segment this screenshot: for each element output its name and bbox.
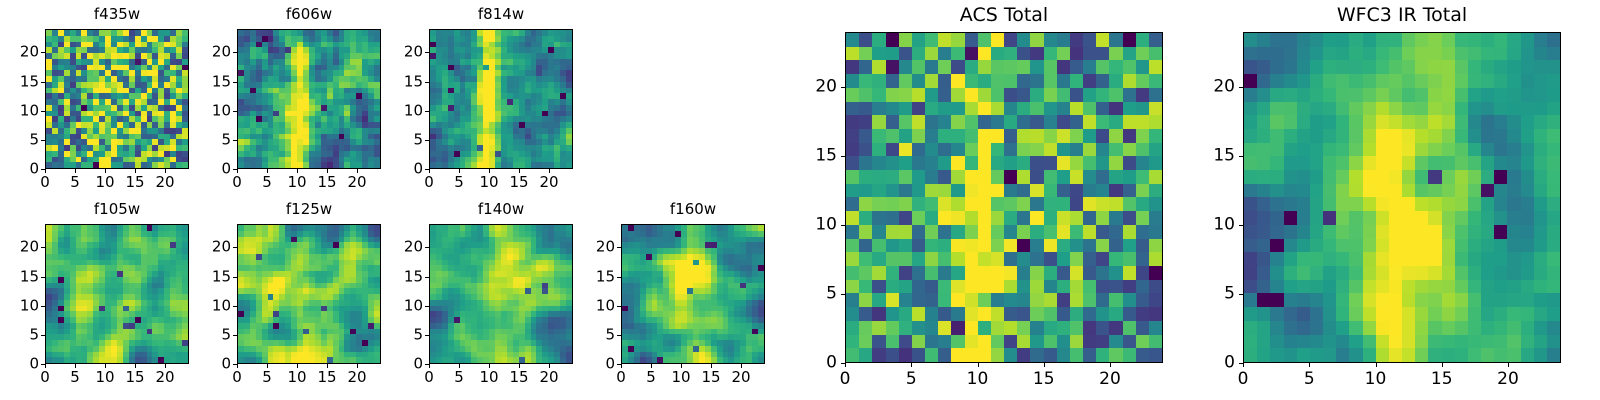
heatmap-cell [1428, 74, 1441, 88]
heatmap-panel-f160w: f160w0510152005101520 [621, 224, 765, 364]
heatmap-cell [566, 162, 572, 168]
heatmap-cell [1096, 348, 1109, 362]
heatmap-cell [1004, 307, 1017, 321]
heatmap-cell [846, 184, 859, 198]
heatmap-cell [1149, 307, 1162, 321]
heatmap-cell [872, 239, 885, 253]
heatmap-cell [1109, 280, 1122, 294]
heatmap-cell [1389, 60, 1402, 74]
heatmap-cell [886, 239, 899, 253]
y-tick-label: 10 [596, 298, 615, 313]
x-tick-label: 10 [287, 175, 306, 190]
y-tick-mark [233, 335, 237, 336]
heatmap-cell [1030, 129, 1043, 143]
heatmap-cell [846, 129, 859, 143]
heatmap-cell [1109, 197, 1122, 211]
heatmap-cell [899, 211, 912, 225]
heatmap-cell [965, 307, 978, 321]
heatmap-cell [1149, 129, 1162, 143]
heatmap-cell [1044, 88, 1057, 102]
heatmap-cell [925, 211, 938, 225]
plot-area-f435w [45, 29, 189, 169]
y-tick-mark [233, 140, 237, 141]
heatmap-cell [1044, 74, 1057, 88]
heatmap-cell [1109, 184, 1122, 198]
heatmap-cell [1070, 225, 1083, 239]
heatmap-cell [912, 211, 925, 225]
heatmap-cell [912, 60, 925, 74]
heatmap-panel-wfc3_ir_total: WFC3 IR Total0510152005101520 [1243, 32, 1561, 363]
heatmap-cell [1030, 33, 1043, 47]
plot-area-f160w [621, 224, 765, 364]
heatmap-cell [951, 156, 964, 170]
heatmap-cell [1004, 60, 1017, 74]
heatmap-cell [1004, 280, 1017, 294]
heatmap-cell [1494, 129, 1507, 143]
y-tick-mark [233, 277, 237, 278]
heatmap-cell [1257, 88, 1270, 102]
y-tick-label: 10 [212, 298, 231, 313]
heatmap-cell [1109, 348, 1122, 362]
heatmap-cell [1336, 60, 1349, 74]
figure-canvas: f435w0510152005101520f606w05101520051015… [0, 0, 1600, 400]
heatmap-cell [859, 60, 872, 74]
heatmap-cell [872, 170, 885, 184]
heatmap-cell [872, 47, 885, 61]
heatmap-cell [1044, 102, 1057, 116]
y-tick-mark [233, 247, 237, 248]
heatmap-cell [1083, 280, 1096, 294]
heatmap-cell [1402, 102, 1415, 116]
x-tick-label: 15 [317, 175, 336, 190]
heatmap-cell [1507, 115, 1520, 129]
heatmap-cell [1096, 239, 1109, 253]
heatmap-cell [1284, 47, 1297, 61]
heatmap-cell [1349, 74, 1362, 88]
heatmap-cell [1481, 88, 1494, 102]
heatmap-cell [1004, 348, 1017, 362]
heatmap-cell [991, 239, 1004, 253]
heatmap-cell [1070, 335, 1083, 349]
heatmap-cell [1481, 129, 1494, 143]
heatmap-cell [846, 197, 859, 211]
y-tick-mark [41, 364, 45, 365]
heatmap-grid-wfc3_ir_total [1244, 33, 1560, 362]
heatmap-cell [1083, 60, 1096, 74]
heatmap-cell [1057, 266, 1070, 280]
heatmap-cell [1244, 33, 1257, 47]
heatmap-cell [912, 33, 925, 47]
heatmap-cell [1149, 102, 1162, 116]
y-tick-label: 20 [596, 240, 615, 255]
heatmap-cell [912, 129, 925, 143]
heatmap-panel-f606w: f606w0510152005101520 [237, 29, 381, 169]
heatmap-cell [938, 74, 951, 88]
heatmap-cell [1123, 307, 1136, 321]
y-tick-mark [41, 306, 45, 307]
heatmap-cell [1070, 74, 1083, 88]
heatmap-cell [1534, 60, 1547, 74]
heatmap-cell [925, 225, 938, 239]
y-tick-label: 0 [826, 355, 837, 372]
x-tick-mark [978, 363, 979, 367]
heatmap-cell [1376, 129, 1389, 143]
heatmap-cell [1363, 129, 1376, 143]
x-tick-label: 10 [479, 175, 498, 190]
heatmap-cell [872, 102, 885, 116]
heatmap-cell [1070, 307, 1083, 321]
heatmap-cell [912, 307, 925, 321]
heatmap-cell [1057, 47, 1070, 61]
heatmap-cell [1494, 102, 1507, 116]
heatmap-cell [951, 321, 964, 335]
heatmap-cell [1284, 115, 1297, 129]
heatmap-cell [1534, 33, 1547, 47]
heatmap-cell [872, 60, 885, 74]
heatmap-cell [1123, 266, 1136, 280]
heatmap-cell [1547, 129, 1560, 143]
heatmap-cell [1149, 88, 1162, 102]
panel-title-f606w: f606w [237, 7, 381, 22]
heatmap-cell [991, 293, 1004, 307]
heatmap-cell [1083, 143, 1096, 157]
heatmap-cell [872, 197, 885, 211]
y-tick-mark [425, 364, 429, 365]
x-tick-label: 0 [232, 175, 242, 190]
heatmap-cell [1149, 74, 1162, 88]
heatmap-cell [1468, 74, 1481, 88]
x-tick-label: 20 [155, 370, 174, 385]
panel-title-f140w: f140w [429, 202, 573, 217]
heatmap-cell [978, 239, 991, 253]
x-tick-label: 0 [40, 370, 50, 385]
heatmap-cell [991, 252, 1004, 266]
heatmap-cell [912, 184, 925, 198]
heatmap-cell [991, 211, 1004, 225]
heatmap-cell [899, 252, 912, 266]
heatmap-cell [1376, 47, 1389, 61]
heatmap-cell [1017, 170, 1030, 184]
heatmap-cell [1402, 47, 1415, 61]
heatmap-cell [951, 74, 964, 88]
y-tick-label: 15 [20, 74, 39, 89]
x-tick-mark [1044, 363, 1045, 367]
y-tick-mark [617, 247, 621, 248]
heatmap-cell [1257, 60, 1270, 74]
heatmap-cell [1109, 88, 1122, 102]
heatmap-cell [899, 307, 912, 321]
x-tick-label: 5 [454, 175, 464, 190]
x-tick-label: 15 [509, 370, 528, 385]
heatmap-cell [951, 348, 964, 362]
heatmap-cell [872, 33, 885, 47]
heatmap-cell [1057, 129, 1070, 143]
heatmap-cell [1044, 225, 1057, 239]
heatmap-cell [1070, 321, 1083, 335]
heatmap-cell [1402, 88, 1415, 102]
heatmap-cell [886, 33, 899, 47]
y-tick-label: 0 [221, 357, 231, 372]
y-tick-label: 20 [815, 79, 837, 96]
x-tick-label: 10 [95, 175, 114, 190]
heatmap-cell [1323, 88, 1336, 102]
heatmap-cell [1044, 252, 1057, 266]
heatmap-cell [1044, 197, 1057, 211]
heatmap-cell [1244, 102, 1257, 116]
heatmap-cell [951, 293, 964, 307]
heatmap-cell [1257, 129, 1270, 143]
heatmap-cell [1096, 184, 1109, 198]
heatmap-cell [951, 88, 964, 102]
heatmap-cell [1284, 60, 1297, 74]
heatmap-cell [1257, 33, 1270, 47]
heatmap-cell [1136, 321, 1149, 335]
heatmap-cell [912, 74, 925, 88]
heatmap-cell [965, 225, 978, 239]
heatmap-cell [1428, 129, 1441, 143]
heatmap-cell [1057, 252, 1070, 266]
heatmap-cell [859, 239, 872, 253]
heatmap-cell [1494, 33, 1507, 47]
heatmap-cell [1376, 102, 1389, 116]
heatmap-cell [1083, 307, 1096, 321]
heatmap-cell [1402, 60, 1415, 74]
heatmap-cell [1149, 184, 1162, 198]
heatmap-cell [899, 321, 912, 335]
heatmap-cell [1004, 225, 1017, 239]
heatmap-cell [1096, 307, 1109, 321]
heatmap-cell [899, 88, 912, 102]
heatmap-cell [1244, 88, 1257, 102]
heatmap-cell [859, 143, 872, 157]
heatmap-grid-f105w [46, 225, 188, 363]
heatmap-cell [1123, 225, 1136, 239]
heatmap-cell [1004, 335, 1017, 349]
y-tick-label: 0 [605, 357, 615, 372]
heatmap-cell [859, 348, 872, 362]
heatmap-cell [1149, 321, 1162, 335]
heatmap-cell [1030, 115, 1043, 129]
heatmap-cell [859, 184, 872, 198]
heatmap-cell [1349, 129, 1362, 143]
heatmap-cell [872, 115, 885, 129]
heatmap-cell [1284, 74, 1297, 88]
heatmap-cell [1494, 115, 1507, 129]
y-tick-label: 20 [212, 240, 231, 255]
heatmap-cell [1109, 129, 1122, 143]
x-tick-label: 15 [1033, 371, 1055, 388]
heatmap-cell [872, 348, 885, 362]
heatmap-cell [1070, 33, 1083, 47]
heatmap-cell [1442, 60, 1455, 74]
heatmap-cell [1149, 197, 1162, 211]
heatmap-cell [1455, 102, 1468, 116]
heatmap-cell [965, 335, 978, 349]
heatmap-cell [872, 335, 885, 349]
heatmap-cell [1284, 102, 1297, 116]
heatmap-cell [1109, 170, 1122, 184]
heatmap-cell [1468, 60, 1481, 74]
x-tick-label: 20 [1099, 371, 1121, 388]
x-tick-label: 20 [347, 175, 366, 190]
heatmap-cell [1044, 239, 1057, 253]
heatmap-cell [1070, 156, 1083, 170]
heatmap-cell [1363, 102, 1376, 116]
heatmap-cell [1096, 321, 1109, 335]
heatmap-cell [1297, 88, 1310, 102]
heatmap-cell [1310, 129, 1323, 143]
y-tick-mark [425, 277, 429, 278]
heatmap-cell [1136, 143, 1149, 157]
heatmap-grid-f125w [238, 225, 380, 363]
heatmap-cell [1096, 225, 1109, 239]
heatmap-cell [1136, 252, 1149, 266]
heatmap-cell [1083, 266, 1096, 280]
heatmap-cell [1323, 129, 1336, 143]
heatmap-cell [1547, 102, 1560, 116]
heatmap-cell [859, 156, 872, 170]
heatmap-cell [978, 307, 991, 321]
heatmap-cell [938, 129, 951, 143]
heatmap-cell [859, 307, 872, 321]
heatmap-cell [1070, 88, 1083, 102]
heatmap-cell [886, 115, 899, 129]
heatmap-cell [1044, 47, 1057, 61]
heatmap-grid-acs_total [846, 33, 1162, 362]
heatmap-cell [1057, 348, 1070, 362]
heatmap-cell [951, 252, 964, 266]
heatmap-cell [978, 170, 991, 184]
heatmap-cell [1455, 33, 1468, 47]
heatmap-cell [1323, 33, 1336, 47]
heatmap-cell [1070, 184, 1083, 198]
x-tick-label: 10 [671, 370, 690, 385]
y-tick-label: 15 [596, 269, 615, 284]
heatmap-cell [965, 115, 978, 129]
heatmap-cell [1083, 102, 1096, 116]
heatmap-cell [938, 47, 951, 61]
heatmap-cell [951, 307, 964, 321]
heatmap-cell [991, 156, 1004, 170]
y-tick-mark [841, 225, 845, 226]
heatmap-cell [965, 60, 978, 74]
x-tick-mark [1110, 363, 1111, 367]
heatmap-cell [1123, 335, 1136, 349]
x-tick-label: 10 [95, 370, 114, 385]
y-tick-label: 15 [212, 269, 231, 284]
y-tick-mark [617, 306, 621, 307]
heatmap-cell [912, 280, 925, 294]
heatmap-cell [925, 129, 938, 143]
heatmap-cell [859, 293, 872, 307]
heatmap-cell [1468, 115, 1481, 129]
heatmap-cell [1017, 293, 1030, 307]
heatmap-cell [1109, 143, 1122, 157]
heatmap-cell [1044, 266, 1057, 280]
heatmap-cell [1297, 60, 1310, 74]
heatmap-cell [912, 102, 925, 116]
heatmap-cell [1057, 170, 1070, 184]
plot-area-acs_total [845, 32, 1163, 363]
heatmap-cell [1070, 197, 1083, 211]
heatmap-cell [1244, 60, 1257, 74]
heatmap-cell [978, 252, 991, 266]
heatmap-cell [846, 321, 859, 335]
heatmap-cell [1136, 307, 1149, 321]
heatmap-cell [1030, 225, 1043, 239]
y-tick-label: 5 [221, 132, 231, 147]
heatmap-cell [1030, 184, 1043, 198]
heatmap-cell [1109, 156, 1122, 170]
heatmap-cell [912, 156, 925, 170]
x-tick-label: 0 [232, 370, 242, 385]
heatmap-cell [912, 252, 925, 266]
heatmap-grid-f160w [622, 225, 764, 363]
y-tick-label: 0 [29, 162, 39, 177]
heatmap-cell [1017, 88, 1030, 102]
heatmap-cell [872, 280, 885, 294]
heatmap-cell [1109, 266, 1122, 280]
plot-area-f606w [237, 29, 381, 169]
heatmap-cell [1270, 60, 1283, 74]
heatmap-cell [872, 266, 885, 280]
heatmap-cell [965, 47, 978, 61]
heatmap-cell [899, 225, 912, 239]
heatmap-cell [951, 266, 964, 280]
heatmap-cell [1310, 74, 1323, 88]
heatmap-cell [1030, 170, 1043, 184]
heatmap-cell [1244, 143, 1257, 157]
y-tick-label: 15 [212, 74, 231, 89]
x-tick-label: 5 [262, 370, 272, 385]
heatmap-cell [1083, 74, 1096, 88]
y-tick-label: 20 [212, 45, 231, 60]
heatmap-cell [1057, 115, 1070, 129]
heatmap-cell [1044, 307, 1057, 321]
heatmap-cell [1096, 60, 1109, 74]
heatmap-cell [1109, 321, 1122, 335]
heatmap-cell [1030, 335, 1043, 349]
heatmap-cell [886, 170, 899, 184]
y-tick-mark [41, 140, 45, 141]
heatmap-cell [899, 129, 912, 143]
heatmap-cell [1442, 115, 1455, 129]
heatmap-cell [951, 129, 964, 143]
heatmap-cell [1044, 293, 1057, 307]
heatmap-cell [182, 357, 188, 363]
heatmap-cell [1415, 60, 1428, 74]
heatmap-cell [846, 348, 859, 362]
heatmap-cell [938, 60, 951, 74]
heatmap-cell [846, 252, 859, 266]
heatmap-cell [1323, 115, 1336, 129]
heatmap-cell [1109, 211, 1122, 225]
heatmap-cell [965, 156, 978, 170]
x-tick-label: 10 [967, 371, 989, 388]
heatmap-cell [978, 156, 991, 170]
heatmap-cell [1070, 293, 1083, 307]
heatmap-cell [1030, 280, 1043, 294]
heatmap-cell [899, 335, 912, 349]
heatmap-cell [1297, 33, 1310, 47]
heatmap-cell [886, 129, 899, 143]
x-tick-label: 5 [646, 370, 656, 385]
heatmap-cell [1349, 33, 1362, 47]
heatmap-cell [965, 211, 978, 225]
panel-title-f105w: f105w [45, 202, 189, 217]
heatmap-cell [1534, 102, 1547, 116]
heatmap-cell [1349, 60, 1362, 74]
